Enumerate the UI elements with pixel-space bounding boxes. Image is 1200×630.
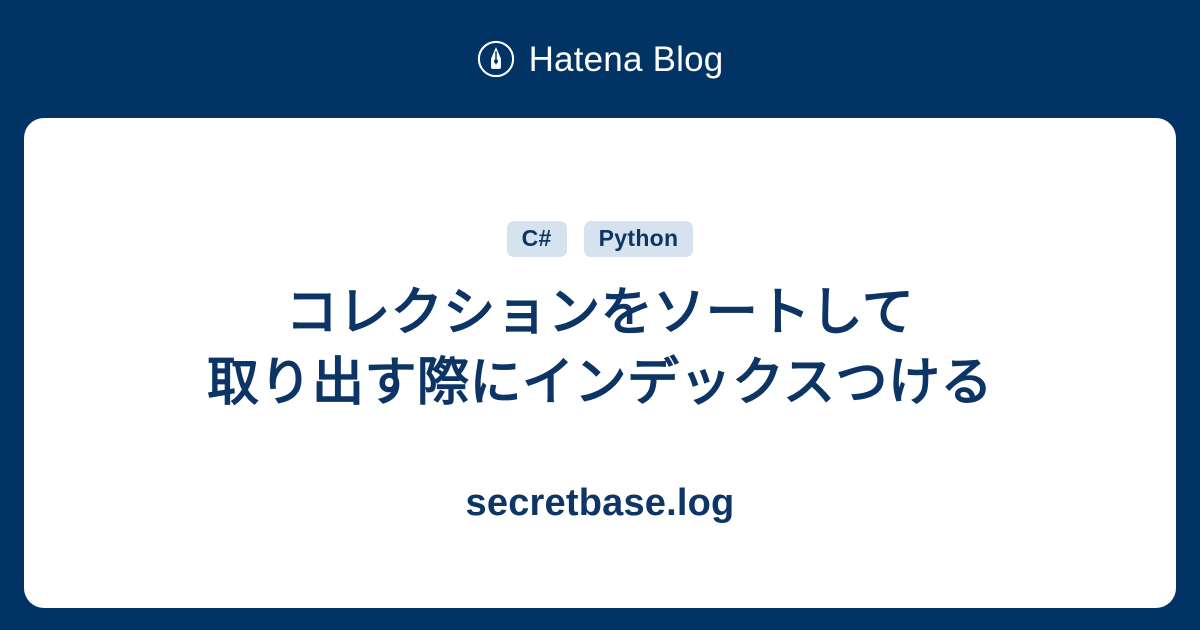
fountain-pen-nib-icon <box>477 40 515 78</box>
blog-name[interactable]: secretbase.log <box>466 484 735 522</box>
entry-title-line-2: 取り出す際にインデックスつける <box>207 348 993 418</box>
tag-list: C# Python <box>507 220 694 258</box>
brand-name: Hatena Blog <box>529 42 724 77</box>
entry-title: コレクションをソートして 取り出す際にインデックスつける <box>207 278 993 418</box>
brand-header: Hatena Blog <box>0 0 1200 118</box>
tag-badge-csharp[interactable]: C# <box>507 221 567 257</box>
entry-card: C# Python コレクションをソートして 取り出す際にインデックスつける s… <box>24 118 1176 608</box>
entry-title-line-1: コレクションをソートして <box>207 278 993 348</box>
tag-badge-python[interactable]: Python <box>584 221 694 257</box>
